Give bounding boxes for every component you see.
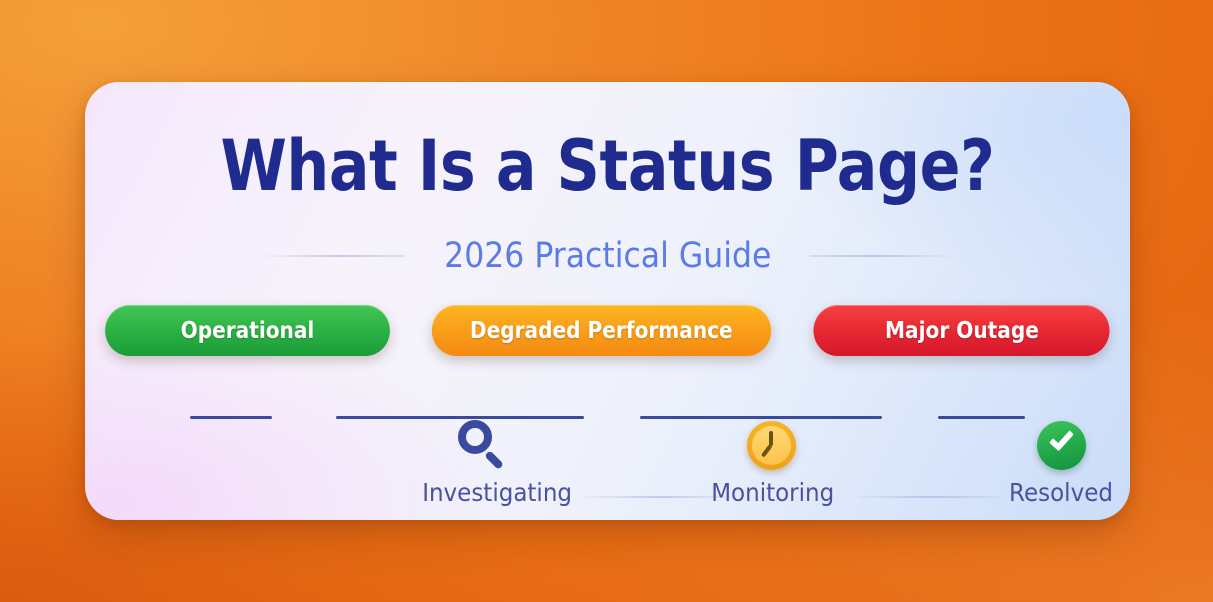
- timeline-step-monitoring-label: Monitoring: [711, 478, 831, 507]
- poster-canvas: What Is a Status Page? 2026 Practical Gu…: [0, 0, 1213, 602]
- status-page-card: What Is a Status Page? 2026 Practical Gu…: [85, 82, 1130, 520]
- clock-icon: [747, 421, 796, 470]
- status-pill-operational[interactable]: Operational: [105, 305, 390, 356]
- timeline-step-investigating-icon-wrap: [417, 416, 547, 474]
- timeline-step-resolved-label: Resolved: [1001, 478, 1121, 507]
- clock-hand-hour: [769, 431, 773, 446]
- status-pill-major-outage[interactable]: Major Outage: [813, 305, 1109, 356]
- check-mark: [1048, 425, 1073, 451]
- status-pill-degraded-performance[interactable]: Degraded Performance: [432, 305, 771, 356]
- timeline-step-investigating[interactable]: Investigating: [417, 416, 547, 507]
- magnifying-glass-lens: [458, 420, 492, 454]
- status-pill-major-outage-label: Major Outage: [884, 318, 1038, 344]
- page-subtitle: 2026 Practical Guide: [444, 236, 771, 276]
- check-circle-icon: [1037, 421, 1086, 470]
- timeline-step-monitoring[interactable]: Monitoring: [706, 416, 836, 507]
- timeline-step-resolved[interactable]: Resolved: [996, 416, 1126, 507]
- status-pill-operational-label: Operational: [181, 318, 315, 344]
- subtitle-rule-left: [258, 255, 406, 257]
- timeline-step-monitoring-icon-wrap: [706, 416, 836, 474]
- subtitle-row: 2026 Practical Guide: [85, 234, 1130, 278]
- incident-timeline: Investigating Monitoring: [85, 390, 1130, 500]
- subtitle-rule-right: [809, 255, 957, 257]
- timeline-step-investigating-label: Investigating: [422, 478, 542, 507]
- page-title: What Is a Status Page?: [158, 131, 1057, 201]
- timeline-step-resolved-icon-wrap: [996, 416, 1126, 474]
- magnifying-glass-handle: [484, 450, 504, 470]
- timeline-track: Investigating Monitoring: [190, 416, 1025, 419]
- timeline-label-connector-2: [858, 496, 1004, 498]
- timeline-segment-start: [190, 416, 272, 419]
- status-pill-group: Operational Degraded Performance Major O…: [85, 305, 1130, 356]
- magnifying-glass-icon: [456, 419, 508, 471]
- status-pill-degraded-performance-label: Degraded Performance: [470, 318, 733, 344]
